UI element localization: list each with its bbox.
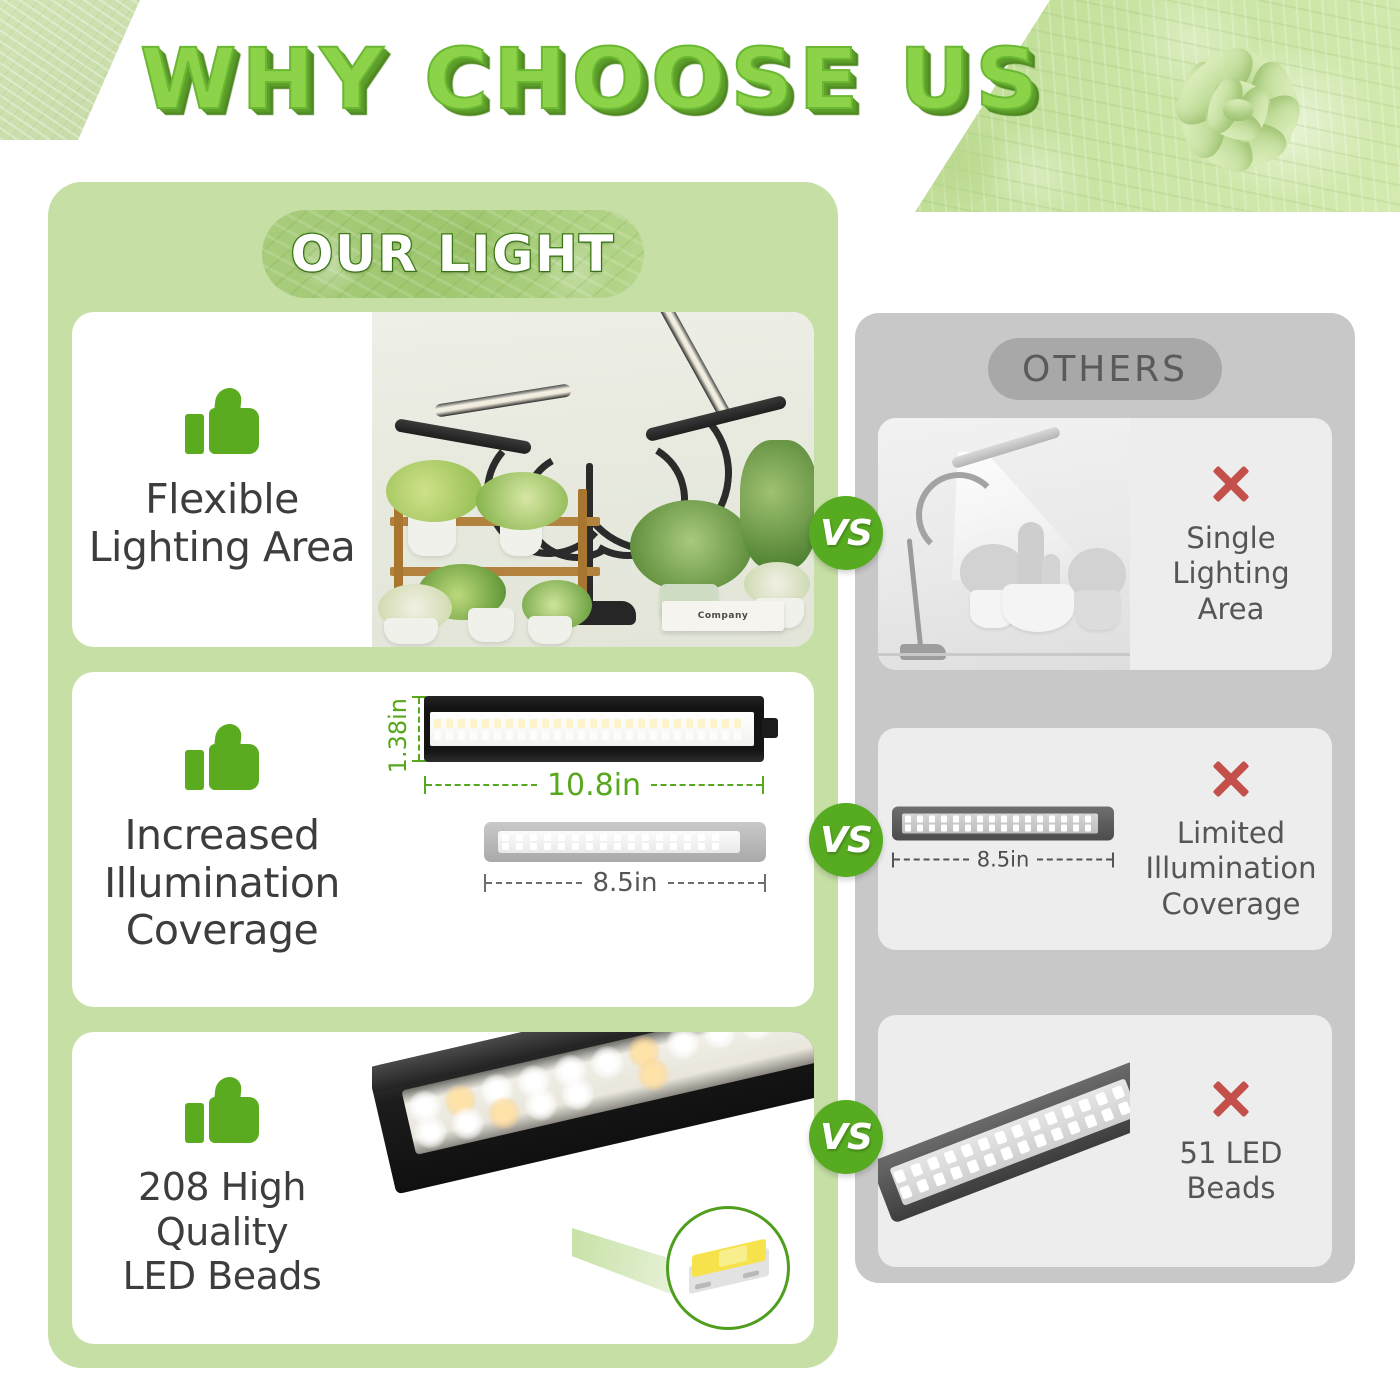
width-dimension-label: 10.8in: [537, 768, 651, 803]
power-connector: [762, 718, 778, 738]
x-mark-icon: [1208, 461, 1254, 507]
led-head: [951, 426, 1061, 469]
led-head: [394, 418, 532, 455]
led-bar-dimension-diagram: 1.38in 10.8in: [372, 672, 814, 1007]
others-2-text-block: Limited Illumination Coverage: [1130, 728, 1332, 950]
vs-badge-row-1: VS: [809, 496, 883, 570]
our-light-row-3: 208 High Quality LED Beads: [72, 1032, 814, 1344]
table-surface: [878, 653, 1130, 656]
others-1-text-block: Single Lighting Area: [1130, 418, 1332, 670]
smd-led-chip-callout: [666, 1206, 790, 1330]
led-strip: [902, 814, 1098, 834]
feature-1-label: Flexible Lighting Area: [89, 476, 356, 572]
vs-label: VS: [820, 1117, 872, 1158]
competitor-led-bar: [892, 807, 1114, 841]
succulent-rosette-icon: [1130, 10, 1345, 210]
others-3-label: 51 LED Beads: [1180, 1136, 1283, 1207]
feature-3-text-block: 208 High Quality LED Beads: [72, 1032, 372, 1344]
single-head-clip-lamp-photo: [878, 418, 1130, 670]
lamp-pole: [907, 538, 923, 646]
led-head: [434, 383, 572, 417]
vs-badge-row-2: VS: [809, 803, 883, 877]
others-1-label: Single Lighting Area: [1136, 521, 1326, 627]
competitor-led-bar: [484, 822, 766, 862]
others-row-2: 8.5in Limited Illumination Coverage: [878, 728, 1332, 950]
vs-label: VS: [820, 820, 872, 861]
height-dimension-label: 1.38in: [384, 698, 412, 773]
company-book: Company: [662, 601, 784, 631]
plant-pot: [468, 608, 514, 642]
our-light-row-1: Flexible Lighting Area Company: [72, 312, 814, 647]
plant-foliage: [630, 500, 752, 592]
smd-led-chip: [689, 1238, 769, 1298]
our-led-bar: [424, 696, 764, 762]
plant-pot: [384, 618, 438, 644]
plant-pot: [528, 616, 572, 644]
led-strip: [430, 712, 754, 746]
led-strip: [498, 831, 740, 853]
thumbs-up-icon: [185, 388, 259, 454]
others-badge-label: OTHERS: [1022, 349, 1188, 390]
grayscale-scene: [878, 418, 1130, 670]
vs-label: VS: [820, 513, 872, 554]
vs-badge-row-3: VS: [809, 1100, 883, 1174]
our-light-badge: OUR LIGHT: [262, 210, 644, 298]
led-bar-body: [372, 1032, 814, 1194]
plant-foliage: [476, 472, 568, 530]
led-bar-closeup-photo: [372, 1032, 814, 1344]
competitor-width-dimension-line: 8.5in: [484, 870, 766, 896]
feature-1-text-block: Flexible Lighting Area: [72, 312, 372, 647]
four-head-grow-light-photo: Company: [372, 312, 814, 647]
gray-led-bar-diagram: 8.5in: [878, 728, 1130, 950]
lamp-clip: [900, 644, 946, 660]
feature-2-text-block: Increased Illumination Coverage: [72, 672, 372, 1007]
plant-foliage: [740, 440, 814, 570]
plant-foliage: [386, 460, 482, 522]
x-mark-icon: [1208, 756, 1254, 802]
our-light-row-2: Increased Illumination Coverage 1.38in: [72, 672, 814, 1007]
others-row-3: 51 LED Beads: [878, 1015, 1332, 1267]
competitor-width-label: 8.5in: [969, 848, 1038, 872]
competitor-width-label: 8.5in: [582, 868, 667, 898]
competitor-width-dimension-line: 8.5in: [892, 848, 1114, 872]
thumbs-up-icon: [185, 724, 259, 790]
plant-pot: [1076, 590, 1120, 630]
others-row-1: Single Lighting Area: [878, 418, 1332, 670]
plant-pot: [1002, 584, 1074, 632]
competitor-led-bar: [878, 1058, 1130, 1224]
others-3-text-block: 51 LED Beads: [1130, 1015, 1332, 1267]
thumbs-up-icon: [185, 1077, 259, 1143]
book-label: Company: [698, 611, 748, 621]
others-2-label: Limited Illumination Coverage: [1145, 816, 1316, 922]
feature-2-label: Increased Illumination Coverage: [104, 812, 340, 956]
page-title: WHY CHOOSE US: [140, 30, 1043, 128]
feature-3-label: 208 High Quality LED Beads: [123, 1165, 322, 1298]
others-badge: OTHERS: [988, 338, 1222, 400]
width-dimension-line: 10.8in: [424, 772, 764, 798]
x-mark-icon: [1208, 1076, 1254, 1122]
our-light-badge-label: OUR LIGHT: [291, 225, 615, 283]
gray-led-bar-photo: [878, 1015, 1130, 1267]
